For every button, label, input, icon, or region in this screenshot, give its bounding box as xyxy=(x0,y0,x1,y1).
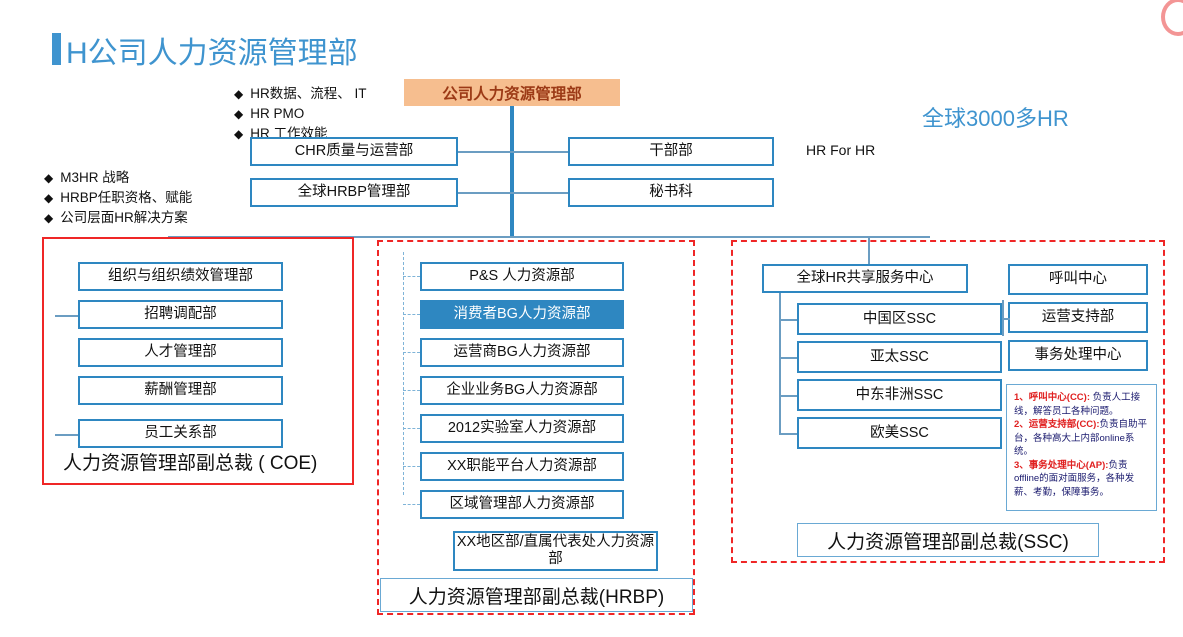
hrbp-item-2012-lab[interactable]: 2012实验室人力资源部 xyxy=(420,414,624,443)
coe-group-caption: 人力资源管理部副总裁 ( COE) xyxy=(63,448,317,475)
top-department-box-secretariat[interactable]: 秘书科 xyxy=(568,178,774,207)
ssc-region-apac[interactable]: 亚太SSC xyxy=(797,341,1002,373)
bullet-item: ◆ HR PMO xyxy=(234,104,366,124)
hrbp-item-enterprise-bg[interactable]: 企业业务BG人力资源部 xyxy=(420,376,624,405)
note-line-1: 1、呼叫中心(CC): 负责人工接线，解答员工各种问题。 xyxy=(1014,391,1150,418)
top-dept-connector xyxy=(512,151,568,153)
ssc-tree-branch xyxy=(779,433,797,435)
top-department-box-cadre[interactable]: 干部部 xyxy=(568,137,774,166)
ssc-group-caption[interactable]: 人力资源管理部副总裁(SSC) xyxy=(797,523,1099,557)
ssc-function-connector-vertical xyxy=(1002,300,1004,336)
hrbp-item-ps[interactable]: P&S 人力资源部 xyxy=(420,262,624,291)
coe-connector xyxy=(55,315,78,317)
coe-item-compensation[interactable]: 薪酬管理部 xyxy=(78,376,283,405)
hrbp-connector xyxy=(403,276,420,277)
bullet-item: ◆ 公司层面HR解决方案 xyxy=(44,208,192,228)
bullet-label: HRBP任职资格、赋能 xyxy=(60,188,192,207)
note-line-3: 3、事务处理中心(AP):负责offline的面对面服务，各种发薪、考勤，保障事… xyxy=(1014,459,1150,500)
hrbp-connector xyxy=(403,390,420,391)
hrbp-connector xyxy=(403,466,420,467)
ssc-center-box[interactable]: 全球HR共享服务中心 xyxy=(762,264,968,293)
bullet-label: HR PMO xyxy=(250,104,304,123)
coe-item-organization-performance[interactable]: 组织与组织绩效管理部 xyxy=(78,262,283,291)
diamond-bullet-icon: ◆ xyxy=(44,169,53,188)
hrbp-dashed-spine xyxy=(403,252,404,495)
ssc-region-mea[interactable]: 中东非洲SSC xyxy=(797,379,1002,411)
ssc-tree-branch xyxy=(779,319,797,321)
top-dept-connector xyxy=(458,151,512,153)
ssc-tree-branch xyxy=(779,357,797,359)
note-key-1: 1、呼叫中心(CC): xyxy=(1014,392,1090,403)
note-key-3: 3、事务处理中心(AP): xyxy=(1014,460,1108,471)
ssc-tree-branch xyxy=(779,395,797,397)
hrbp-item-function-platform[interactable]: XX职能平台人力资源部 xyxy=(420,452,624,481)
hrbp-connector xyxy=(403,352,420,353)
note-key-2: 2、运营支持部(CC): xyxy=(1014,419,1100,430)
ssc-function-operation-support[interactable]: 运营支持部 xyxy=(1008,302,1148,333)
hrbp-connector xyxy=(403,314,420,315)
top-department-box-chr-quality[interactable]: CHR质量与运营部 xyxy=(250,137,458,166)
coe-connector xyxy=(55,434,78,436)
org-chart-slide: H公司人力资源管理部 ◆ HR数据、流程、 IT ◆ HR PMO ◆ HR 工… xyxy=(0,0,1183,637)
diamond-bullet-icon: ◆ xyxy=(234,105,243,124)
hrbp-item-region-representative-office[interactable]: XX地区部/直属代表处人力资源部 xyxy=(453,531,658,571)
head-department-box[interactable]: 公司人力资源管理部 xyxy=(404,79,620,106)
hrbp-connector xyxy=(403,428,420,429)
coe-item-employee-relations[interactable]: 员工关系部 xyxy=(78,419,283,448)
left-bullet-list: ◆ M3HR 战略 ◆ HRBP任职资格、赋能 ◆ 公司层面HR解决方案 xyxy=(44,168,192,228)
top-bullet-list: ◆ HR数据、流程、 IT ◆ HR PMO ◆ HR 工作效能 xyxy=(234,84,366,144)
ssc-function-transaction-center[interactable]: 事务处理中心 xyxy=(1008,340,1148,371)
ssc-region-china[interactable]: 中国区SSC xyxy=(797,303,1002,335)
top-dept-connector xyxy=(512,192,568,194)
hrbp-connector xyxy=(403,504,420,505)
title-accent-bar xyxy=(52,33,61,65)
coe-item-recruitment[interactable]: 招聘调配部 xyxy=(78,300,283,329)
global-hr-count-label: 全球3000多HR xyxy=(922,101,1069,133)
bullet-label: 公司层面HR解决方案 xyxy=(60,208,188,227)
coe-item-talent-management[interactable]: 人才管理部 xyxy=(78,338,283,367)
note-line-2: 2、运营支持部(CC):负责自助平台，各种高大上内部online系统。 xyxy=(1014,418,1150,459)
page-title: H公司人力资源管理部 xyxy=(66,28,358,72)
hr-for-hr-label: HR For HR xyxy=(806,142,875,158)
spine-vertical-connector xyxy=(510,106,514,238)
diamond-bullet-icon: ◆ xyxy=(234,125,243,144)
hrbp-item-carrier-bg[interactable]: 运营商BG人力资源部 xyxy=(420,338,624,367)
ssc-region-europe-americas[interactable]: 欧美SSC xyxy=(797,417,1002,449)
corner-arc-decoration xyxy=(1161,0,1183,36)
bullet-item: ◆ HR数据、流程、 IT xyxy=(234,84,366,104)
bullet-item: ◆ M3HR 战略 xyxy=(44,168,192,188)
bullet-item: ◆ HRBP任职资格、赋能 xyxy=(44,188,192,208)
ssc-tree-vertical xyxy=(779,293,781,433)
bullet-label: HR数据、流程、 IT xyxy=(250,84,366,103)
top-dept-connector xyxy=(458,192,512,194)
ssc-note-box: 1、呼叫中心(CC): 负责人工接线，解答员工各种问题。 2、运营支持部(CC)… xyxy=(1006,384,1157,511)
hrbp-item-consumer-bg[interactable]: 消费者BG人力资源部 xyxy=(420,300,624,329)
diamond-bullet-icon: ◆ xyxy=(234,85,243,104)
hrbp-group-caption[interactable]: 人力资源管理部副总裁(HRBP) xyxy=(380,578,693,612)
ssc-function-call-center[interactable]: 呼叫中心 xyxy=(1008,264,1148,295)
bullet-label: M3HR 战略 xyxy=(60,168,129,187)
diamond-bullet-icon: ◆ xyxy=(44,189,53,208)
hrbp-item-regional-management[interactable]: 区域管理部人力资源部 xyxy=(420,490,624,519)
top-department-box-global-hrbp[interactable]: 全球HRBP管理部 xyxy=(250,178,458,207)
diamond-bullet-icon: ◆ xyxy=(44,209,53,228)
